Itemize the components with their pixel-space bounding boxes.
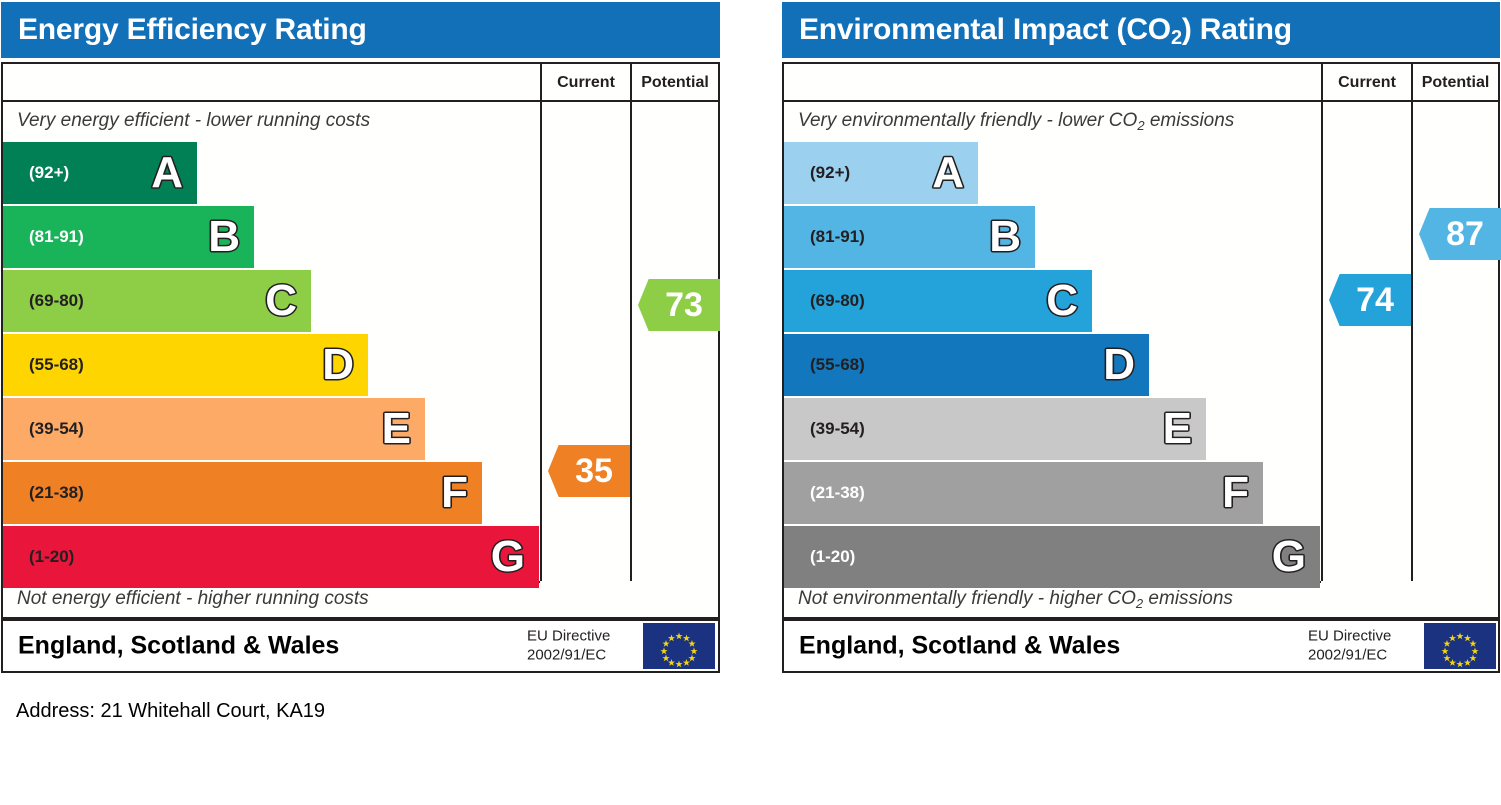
- eu-directive-text: EU Directive 2002/91/EC: [527, 627, 610, 665]
- caption-bottom-tail: emissions: [1143, 588, 1233, 609]
- band-e: (39-54) E: [784, 398, 1206, 460]
- eu-directive-line2: 2002/91/EC: [1308, 646, 1391, 665]
- band-d-range: (55-68): [29, 355, 84, 375]
- environmental-impact-body: Current Potential Very environmentally f…: [782, 62, 1500, 619]
- epc-certificate-page: Energy Efficiency Rating Current Potenti…: [0, 0, 1501, 805]
- eu-directive-text: EU Directive 2002/91/EC: [1308, 627, 1391, 665]
- band-f-letter: F: [1222, 471, 1249, 515]
- eu-flag-icon: [1424, 623, 1496, 669]
- band-area-divider-1: [1321, 102, 1323, 581]
- band-b: (81-91) B: [784, 206, 1035, 268]
- co2-subscript: 2: [1171, 27, 1182, 49]
- band-area-divider-1: [540, 102, 542, 581]
- current-rating-arrow: 74: [1329, 274, 1411, 326]
- caption-top-subscript: 2: [1137, 118, 1144, 133]
- energy-efficiency-body: Current Potential Very energy efficient …: [1, 62, 720, 619]
- current-rating-arrow: 35: [548, 445, 630, 497]
- band-a: (92+) A: [3, 142, 197, 204]
- band-c: (69-80) C: [3, 270, 311, 332]
- footer-region-label: England, Scotland & Wales: [18, 632, 339, 661]
- band-c: (69-80) C: [784, 270, 1092, 332]
- eu-directive-line2: 2002/91/EC: [527, 646, 610, 665]
- current-column-header: Current: [542, 64, 630, 102]
- environmental-impact-title-tail: ) Rating: [1182, 13, 1292, 46]
- band-f-range: (21-38): [29, 483, 84, 503]
- band-e-range: (39-54): [29, 419, 84, 439]
- band-b-letter: B: [989, 215, 1021, 259]
- band-g: (1-20) G: [3, 526, 539, 588]
- band-a-range: (92+): [810, 163, 850, 183]
- band-c-range: (69-80): [810, 291, 865, 311]
- potential-rating-arrow: 87: [1419, 208, 1501, 260]
- band-d: (55-68) D: [3, 334, 368, 396]
- environmental-impact-title-text: Environmental Impact (CO: [799, 13, 1171, 46]
- band-c-letter: C: [265, 279, 297, 323]
- band-a-range: (92+): [29, 163, 69, 183]
- band-f-range: (21-38): [810, 483, 865, 503]
- eu-directive-line1: EU Directive: [1308, 627, 1391, 646]
- band-a: (92+) A: [784, 142, 978, 204]
- caption-bottom-text: Not environmentally friendly - higher CO: [798, 588, 1136, 609]
- band-g: (1-20) G: [784, 526, 1320, 588]
- energy-efficiency-title-bar: Energy Efficiency Rating: [1, 2, 720, 58]
- energy-efficiency-bands: (92+) A (81-91) B (69-80) C (55-68) D (3…: [3, 142, 540, 582]
- energy-efficiency-chart: Energy Efficiency Rating Current Potenti…: [1, 0, 720, 675]
- band-area-divider-2: [1411, 102, 1413, 581]
- band-g-range: (1-20): [810, 547, 855, 567]
- current-column-header: Current: [1323, 64, 1411, 102]
- energy-efficiency-caption-top: Very energy efficient - lower running co…: [17, 110, 370, 132]
- caption-top-tail: emissions: [1145, 110, 1235, 131]
- band-c-range: (69-80): [29, 291, 84, 311]
- environmental-impact-title: Environmental Impact (CO2) Rating: [799, 13, 1292, 47]
- environmental-impact-caption-bottom: Not environmentally friendly - higher CO…: [798, 588, 1233, 610]
- eu-flag-icon: [643, 623, 715, 669]
- band-f: (21-38) F: [784, 462, 1263, 524]
- environmental-impact-header-row: Current Potential: [784, 64, 1498, 102]
- band-e-letter: E: [1163, 407, 1192, 451]
- band-e: (39-54) E: [3, 398, 425, 460]
- band-c-letter: C: [1046, 279, 1078, 323]
- energy-efficiency-caption-bottom: Not energy efficient - higher running co…: [17, 588, 369, 610]
- band-f-letter: F: [441, 471, 468, 515]
- environmental-impact-bands: (92+) A (81-91) B (69-80) C (55-68) D (3…: [784, 142, 1321, 582]
- band-e-range: (39-54): [810, 419, 865, 439]
- band-b: (81-91) B: [3, 206, 254, 268]
- band-g-letter: G: [1272, 535, 1306, 579]
- eu-directive-line1: EU Directive: [527, 627, 610, 646]
- band-area-divider-2: [630, 102, 632, 581]
- caption-top-text: Very environmentally friendly - lower CO: [798, 110, 1137, 131]
- band-d-range: (55-68): [810, 355, 865, 375]
- energy-efficiency-footer: England, Scotland & Wales EU Directive 2…: [1, 619, 720, 673]
- energy-efficiency-title-text: Energy Efficiency Rating: [18, 13, 367, 46]
- energy-efficiency-header-row: Current Potential: [3, 64, 718, 102]
- band-d-letter: D: [322, 343, 354, 387]
- property-address: Address: 21 Whitehall Court, KA19: [16, 700, 325, 723]
- band-d: (55-68) D: [784, 334, 1149, 396]
- energy-efficiency-title: Energy Efficiency Rating: [18, 13, 367, 47]
- band-e-letter: E: [382, 407, 411, 451]
- band-g-range: (1-20): [29, 547, 74, 567]
- band-b-range: (81-91): [810, 227, 865, 247]
- band-d-letter: D: [1103, 343, 1135, 387]
- band-b-letter: B: [208, 215, 240, 259]
- band-a-letter: A: [151, 151, 183, 195]
- environmental-impact-footer: England, Scotland & Wales EU Directive 2…: [782, 619, 1500, 673]
- band-f: (21-38) F: [3, 462, 482, 524]
- band-g-letter: G: [491, 535, 525, 579]
- caption-bottom-subscript: 2: [1136, 596, 1143, 611]
- band-a-letter: A: [932, 151, 964, 195]
- potential-rating-arrow: 73: [638, 279, 720, 331]
- potential-column-header: Potential: [1413, 64, 1498, 102]
- environmental-impact-caption-top: Very environmentally friendly - lower CO…: [798, 110, 1234, 132]
- footer-region-label: England, Scotland & Wales: [799, 632, 1120, 661]
- environmental-impact-chart: Environmental Impact (CO2) Rating Curren…: [782, 0, 1500, 675]
- environmental-impact-title-bar: Environmental Impact (CO2) Rating: [782, 2, 1500, 58]
- band-b-range: (81-91): [29, 227, 84, 247]
- potential-column-header: Potential: [632, 64, 718, 102]
